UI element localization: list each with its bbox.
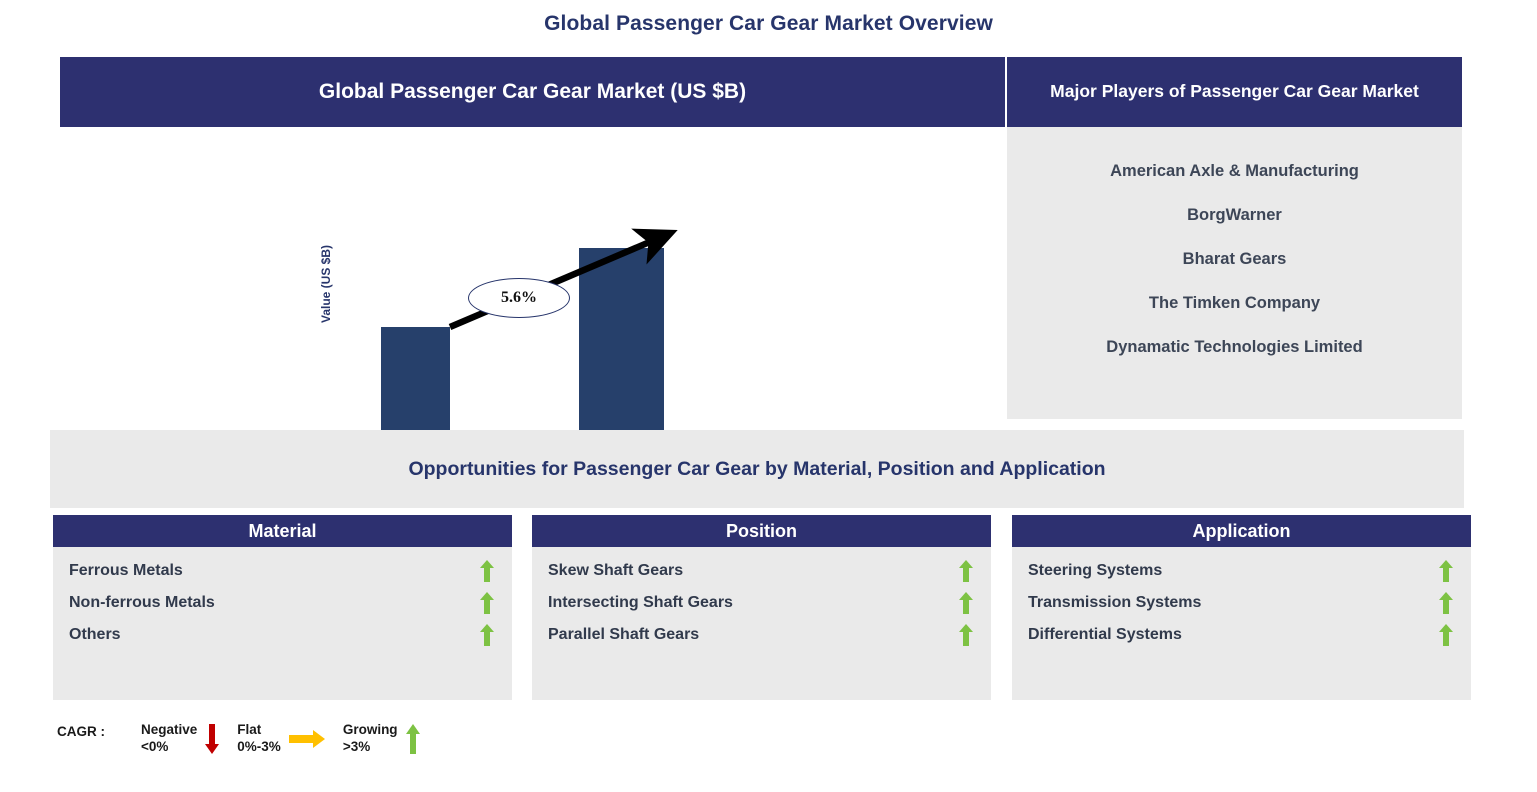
- arrow-up-green-icon: [1439, 560, 1453, 582]
- arrow-up-green-icon: [406, 724, 420, 754]
- list-item: Skew Shaft Gears: [532, 555, 991, 587]
- list-item-label: Ferrous Metals: [69, 562, 183, 580]
- panel-list-material: Ferrous Metals Non-ferrous Metals Others: [53, 547, 512, 651]
- arrow-right-yellow-icon: [289, 729, 325, 749]
- opportunity-panel-application: Application Steering Systems Transmissio…: [1012, 515, 1471, 700]
- cagr-legend-item-negative: Negative <0%: [141, 722, 227, 756]
- arrow-up-green-icon: [480, 592, 494, 614]
- list-item: Non-ferrous Metals: [53, 587, 512, 619]
- list-item: Parallel Shaft Gears: [532, 619, 991, 651]
- panel-header-material: Material: [53, 515, 512, 547]
- arrow-up-green-icon: [959, 592, 973, 614]
- chart-plot-area: Value (US $B) 5.6% 2025 2031 Source : Lu…: [60, 127, 1005, 419]
- panel-title: Material: [248, 521, 316, 542]
- panel-header-application: Application: [1012, 515, 1471, 547]
- list-item: American Axle & Manufacturing: [1007, 149, 1462, 193]
- major-players-title: Major Players of Passenger Car Gear Mark…: [1050, 80, 1419, 104]
- list-item: Dynamatic Technologies Limited: [1007, 325, 1462, 369]
- list-item-label: Differential Systems: [1028, 626, 1182, 644]
- arrow-up-green-icon: [480, 624, 494, 646]
- panel-list-position: Skew Shaft Gears Intersecting Shaft Gear…: [532, 547, 991, 651]
- list-item: Differential Systems: [1012, 619, 1471, 651]
- arrow-down-red-icon: [205, 724, 219, 754]
- list-item: BorgWarner: [1007, 193, 1462, 237]
- opportunities-banner-title: Opportunities for Passenger Car Gear by …: [408, 458, 1105, 481]
- opportunity-panel-material: Material Ferrous Metals Non-ferrous Meta…: [53, 515, 512, 700]
- legend-range: 0%-3%: [237, 739, 281, 754]
- list-item-label: Intersecting Shaft Gears: [548, 594, 733, 612]
- legend-label: Growing: [343, 722, 398, 737]
- legend-label: Negative: [141, 722, 197, 737]
- bar-2031: [579, 248, 664, 456]
- list-item: Bharat Gears: [1007, 237, 1462, 281]
- list-item-label: Non-ferrous Metals: [69, 594, 215, 612]
- chart-y-axis-label: Value (US $B): [319, 245, 333, 323]
- list-item: Transmission Systems: [1012, 587, 1471, 619]
- list-item: Intersecting Shaft Gears: [532, 587, 991, 619]
- cagr-legend: CAGR : Negative <0% Flat 0%-3% Growing >…: [57, 722, 438, 756]
- panel-title: Application: [1193, 521, 1291, 542]
- cagr-legend-title: CAGR :: [57, 722, 105, 739]
- list-item: The Timken Company: [1007, 281, 1462, 325]
- panel-header-position: Position: [532, 515, 991, 547]
- list-item: Steering Systems: [1012, 555, 1471, 587]
- cagr-callout-bubble: 5.6%: [468, 278, 570, 318]
- panel-title: Position: [726, 521, 797, 542]
- legend-range: <0%: [141, 739, 168, 754]
- cagr-legend-item-flat: Flat 0%-3%: [237, 722, 333, 756]
- arrow-up-green-icon: [959, 624, 973, 646]
- arrow-up-green-icon: [480, 560, 494, 582]
- legend-range: >3%: [343, 739, 370, 754]
- legend-label: Flat: [237, 722, 261, 737]
- list-item-label: Parallel Shaft Gears: [548, 626, 699, 644]
- list-item: Others: [53, 619, 512, 651]
- list-item-label: Others: [69, 626, 121, 644]
- arrow-up-green-icon: [959, 560, 973, 582]
- market-chart-card: Global Passenger Car Gear Market (US $B)…: [60, 57, 1005, 419]
- arrow-up-green-icon: [1439, 592, 1453, 614]
- opportunity-panel-position: Position Skew Shaft Gears Intersecting S…: [532, 515, 991, 700]
- legend-text-flat: Flat 0%-3%: [237, 722, 281, 756]
- legend-text-negative: Negative <0%: [141, 722, 197, 756]
- list-item-label: Transmission Systems: [1028, 594, 1201, 612]
- list-item-label: Steering Systems: [1028, 562, 1162, 580]
- major-players-header: Major Players of Passenger Car Gear Mark…: [1007, 57, 1462, 127]
- chart-card-title: Global Passenger Car Gear Market (US $B): [319, 80, 746, 104]
- list-item-label: Skew Shaft Gears: [548, 562, 683, 580]
- page-title: Global Passenger Car Gear Market Overvie…: [0, 12, 1537, 36]
- list-item: Ferrous Metals: [53, 555, 512, 587]
- legend-text-growing: Growing >3%: [343, 722, 398, 756]
- arrow-up-green-icon: [1439, 624, 1453, 646]
- major-players-list: American Axle & Manufacturing BorgWarner…: [1007, 127, 1462, 369]
- panel-list-application: Steering Systems Transmission Systems Di…: [1012, 547, 1471, 651]
- chart-card-header: Global Passenger Car Gear Market (US $B): [60, 57, 1005, 127]
- cagr-arrow-icon: [60, 127, 1005, 419]
- major-players-card: Major Players of Passenger Car Gear Mark…: [1007, 57, 1462, 419]
- opportunities-banner: Opportunities for Passenger Car Gear by …: [50, 430, 1464, 508]
- cagr-legend-item-growing: Growing >3%: [343, 722, 428, 756]
